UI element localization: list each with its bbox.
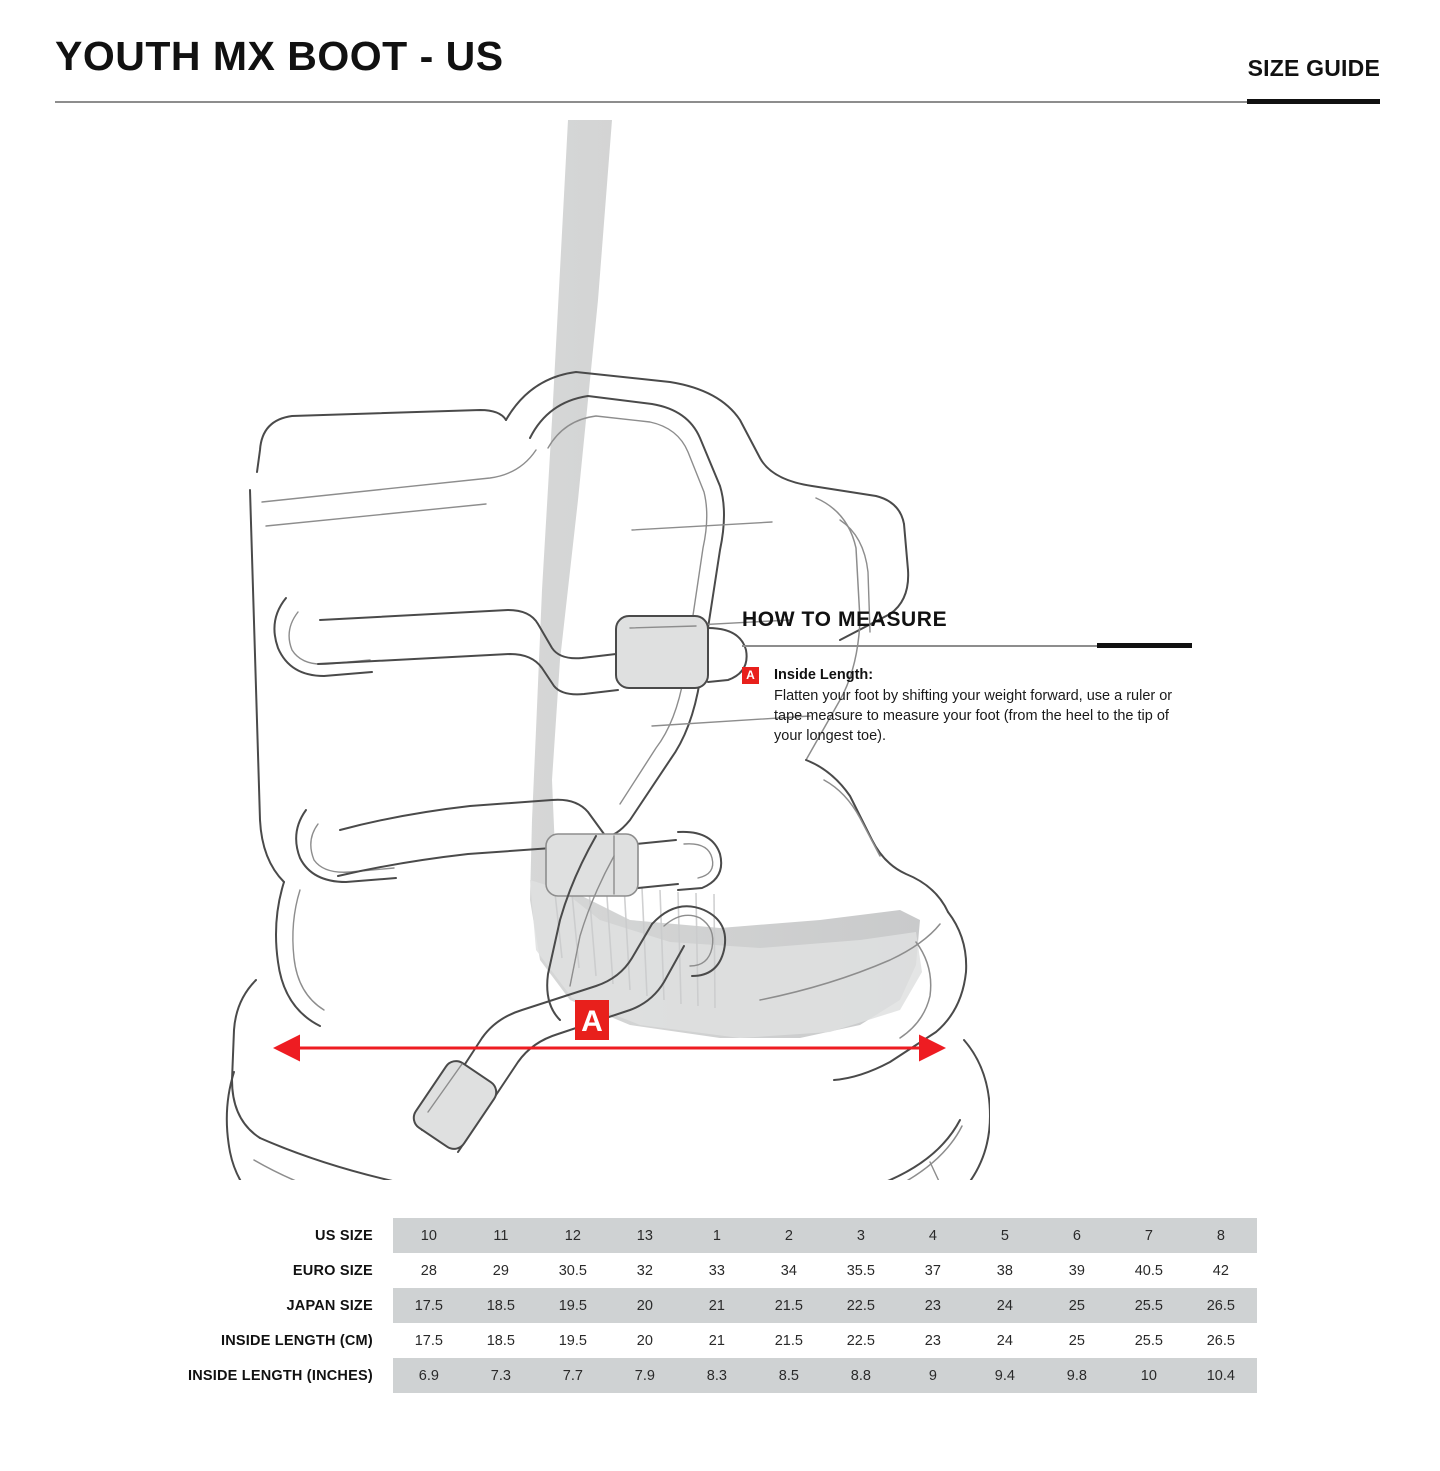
row-header-label: US SIZE (188, 1218, 393, 1253)
table-row: EURO SIZE282930.532333435.537383940.542 (188, 1253, 1257, 1288)
measurement-marker-a: A (575, 1000, 609, 1040)
ankle-collar (276, 882, 320, 1026)
table-cell: 21 (681, 1288, 753, 1323)
how-to-measure-title: HOW TO MEASURE (742, 608, 1192, 632)
row-header-label: JAPAN SIZE (188, 1288, 393, 1323)
marker-a-label: A (581, 1005, 603, 1038)
table-cell: 4 (897, 1218, 969, 1253)
upper-sole-joint (260, 1120, 960, 1180)
table-cell: 29 (465, 1253, 537, 1288)
table-cell: 1 (681, 1218, 753, 1253)
table-cell: 19.5 (537, 1288, 609, 1323)
quarter-panel-right (806, 760, 948, 912)
table-cell: 3 (825, 1218, 897, 1253)
table-cell: 6 (1041, 1218, 1113, 1253)
table-cell: 25.5 (1113, 1288, 1185, 1323)
size-chart-body: US SIZE1011121312345678EURO SIZE282930.5… (188, 1218, 1257, 1393)
table-cell: 21.5 (753, 1288, 825, 1323)
table-cell: 17.5 (393, 1323, 465, 1358)
boot-linework (227, 372, 990, 1180)
table-cell: 2 (753, 1218, 825, 1253)
buckle-upper (274, 598, 746, 694)
page-title: YOUTH MX BOOT - US (55, 33, 504, 80)
leg-silhouette-group (328, 120, 922, 1038)
table-cell: 35.5 (825, 1253, 897, 1288)
table-cell: 22.5 (825, 1323, 897, 1358)
table-cell: 21 (681, 1323, 753, 1358)
table-cell: 18.5 (465, 1323, 537, 1358)
table-cell: 24 (969, 1323, 1041, 1358)
table-cell: 5 (969, 1218, 1041, 1253)
quarter-panel-right-2 (824, 780, 880, 856)
table-cell: 7.7 (537, 1358, 609, 1393)
table-cell: 22.5 (825, 1288, 897, 1323)
table-cell: 20 (609, 1323, 681, 1358)
shaft-seam-1 (632, 522, 772, 530)
buckle-upper-clip (708, 628, 747, 682)
table-cell: 9.8 (1041, 1358, 1113, 1393)
ankle-collar-inner (293, 890, 324, 1010)
table-cell: 25 (1041, 1323, 1113, 1358)
table-row: US SIZE1011121312345678 (188, 1218, 1257, 1253)
table-row: INSIDE LENGTH (CM)17.518.519.5202121.522… (188, 1323, 1257, 1358)
table-cell: 10.4 (1185, 1358, 1257, 1393)
buckle-middle-loop-inner (311, 824, 394, 872)
size-guide-badge: SIZE GUIDE (1248, 55, 1380, 82)
table-cell: 12 (537, 1218, 609, 1253)
table-cell: 21.5 (753, 1323, 825, 1358)
table-row: JAPAN SIZE17.518.519.5202121.522.5232425… (188, 1288, 1257, 1323)
buckle-lower-pad (409, 1056, 501, 1153)
table-cell: 8.3 (681, 1358, 753, 1393)
row-header-label: INSIDE LENGTH (INCHES) (188, 1358, 393, 1393)
table-cell: 26.5 (1185, 1288, 1257, 1323)
table-cell: 38 (969, 1253, 1041, 1288)
boot-cuff-back (257, 410, 506, 472)
table-cell: 8.8 (825, 1358, 897, 1393)
table-cell: 7.9 (609, 1358, 681, 1393)
table-cell: 24 (969, 1288, 1041, 1323)
row-header-label: EURO SIZE (188, 1253, 393, 1288)
table-cell: 8.5 (753, 1358, 825, 1393)
buckle-middle-clip-inner (684, 844, 713, 878)
table-cell: 33 (681, 1253, 753, 1288)
size-chart-table: US SIZE1011121312345678EURO SIZE282930.5… (188, 1218, 1257, 1393)
table-cell: 25 (1041, 1288, 1113, 1323)
how-to-measure-section: HOW TO MEASURE A Inside Length: Flatten … (742, 608, 1192, 746)
outsole-tread (302, 1162, 944, 1180)
table-cell: 39 (1041, 1253, 1113, 1288)
leg-silhouette (328, 120, 920, 1038)
how-to-measure-body: A Inside Length: Flatten your foot by sh… (742, 666, 1192, 746)
table-cell: 7.3 (465, 1358, 537, 1393)
table-cell: 34 (753, 1253, 825, 1288)
table-cell: 23 (897, 1288, 969, 1323)
boot-shaft-back (250, 490, 284, 882)
table-cell: 42 (1185, 1253, 1257, 1288)
table-cell: 9 (897, 1358, 969, 1393)
header-divider (55, 101, 1380, 103)
buckle-upper-strap (320, 610, 616, 658)
table-cell: 23 (897, 1323, 969, 1358)
table-cell: 8 (1185, 1218, 1257, 1253)
table-cell: 9.4 (969, 1358, 1041, 1393)
table-cell: 10 (1113, 1358, 1185, 1393)
outsole-outer (227, 1040, 990, 1180)
table-cell: 17.5 (393, 1288, 465, 1323)
page-header: YOUTH MX BOOT - US SIZE GUIDE (0, 0, 1440, 115)
table-cell: 7 (1113, 1218, 1185, 1253)
boot-cuff-inner-2 (266, 504, 486, 526)
table-cell: 18.5 (465, 1288, 537, 1323)
table-cell: 28 (393, 1253, 465, 1288)
boot-cuff-inner (262, 450, 536, 502)
heel-counter (232, 980, 260, 1138)
how-to-measure-divider-accent (1097, 643, 1192, 648)
table-cell: 20 (609, 1288, 681, 1323)
table-cell: 26.5 (1185, 1323, 1257, 1358)
marker-a-badge-icon: A (742, 667, 759, 684)
how-to-measure-divider-wrap (742, 642, 1192, 650)
table-cell: 32 (609, 1253, 681, 1288)
buckle-middle (296, 800, 721, 896)
table-cell: 6.9 (393, 1358, 465, 1393)
inside-length-heading: Inside Length: (774, 666, 1192, 685)
table-cell: 10 (393, 1218, 465, 1253)
table-cell: 37 (897, 1253, 969, 1288)
inside-length-description: Flatten your foot by shifting your weigh… (774, 686, 1192, 746)
table-row: INSIDE LENGTH (INCHES)6.97.37.77.98.38.5… (188, 1358, 1257, 1393)
buckle-middle-clip (678, 832, 721, 890)
table-cell: 13 (609, 1218, 681, 1253)
header-divider-accent (1247, 99, 1380, 104)
table-cell: 11 (465, 1218, 537, 1253)
table-cell: 25.5 (1113, 1323, 1185, 1358)
table-cell: 30.5 (537, 1253, 609, 1288)
table-cell: 19.5 (537, 1323, 609, 1358)
row-header-label: INSIDE LENGTH (CM) (188, 1323, 393, 1358)
table-cell: 40.5 (1113, 1253, 1185, 1288)
